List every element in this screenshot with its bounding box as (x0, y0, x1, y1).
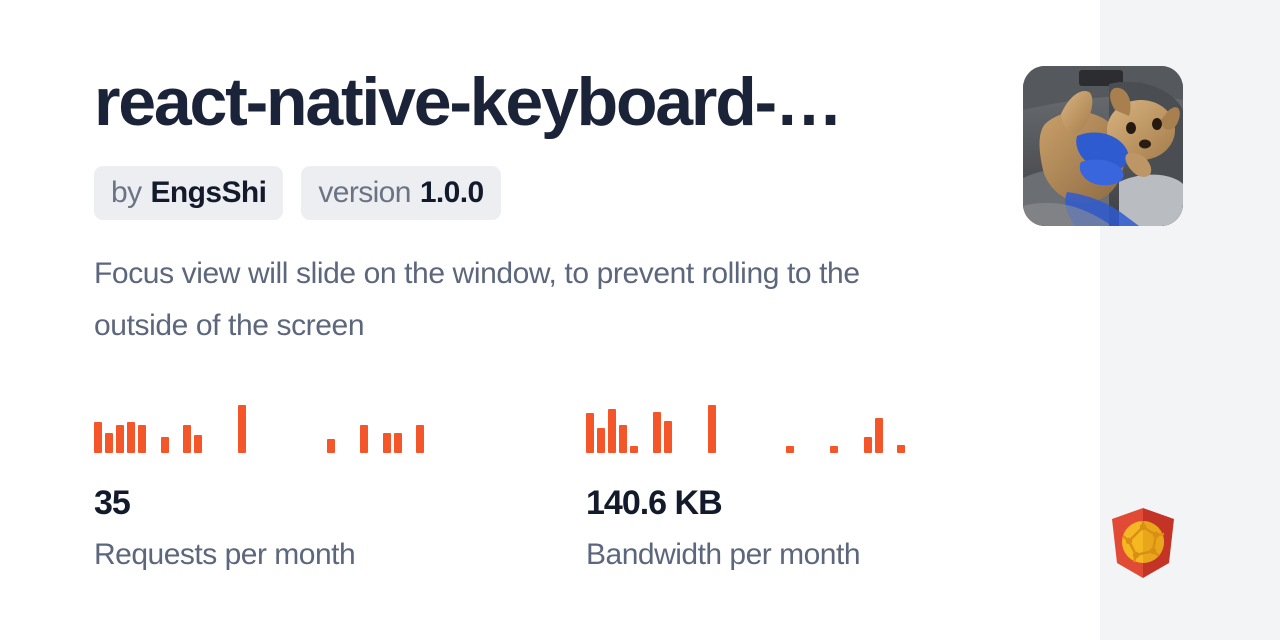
sparkline-bar (194, 435, 202, 453)
sparkline-bar (664, 421, 672, 453)
author-prefix-label: by (111, 175, 142, 211)
sparkline-bar (416, 425, 424, 453)
sparkline-bar (830, 446, 838, 453)
sparkline-bar (619, 425, 627, 453)
sparkline-bar (116, 425, 124, 453)
sparkline-bar (105, 433, 113, 453)
sparkline-bar (864, 437, 872, 453)
sparkline-bar (897, 445, 905, 453)
requests-label: Requests per month (94, 523, 586, 573)
version-badge: version 1.0.0 (301, 166, 500, 220)
bandwidth-value: 140.6 KB (586, 453, 916, 523)
sparkline-bar (875, 418, 883, 453)
sparkline-bar (327, 439, 335, 453)
sparkline-bar (608, 409, 616, 453)
sparkline-bar (597, 428, 605, 453)
sparkline-bar (161, 437, 169, 453)
sparkline-bar (383, 433, 391, 453)
sparkline-bar (183, 425, 191, 453)
package-description: Focus view will slide on the window, to … (94, 248, 914, 352)
meta-badges: by EngsShi version 1.0.0 (94, 166, 501, 220)
sparkline-bar (630, 446, 638, 453)
version-number: 1.0.0 (420, 175, 484, 211)
sparkline-bar (708, 405, 716, 453)
sparkline-bar (360, 425, 368, 453)
author-name: EngsShi (151, 175, 267, 211)
card-content: react-native-keyboard-… by EngsShi versi… (94, 0, 1034, 640)
package-title: react-native-keyboard-… (94, 62, 841, 142)
author-badge: by EngsShi (94, 166, 283, 220)
sparkline-bar (238, 405, 246, 453)
jsdelivr-logo (1112, 508, 1174, 578)
stats-row: 35 Requests per month 140.6 KB Bandwidth… (94, 405, 916, 573)
sparkline-bar (786, 446, 794, 453)
sparkline-bar (94, 422, 102, 453)
requests-sparkline (94, 405, 424, 453)
author-avatar (1023, 66, 1183, 226)
requests-value: 35 (94, 453, 586, 523)
stat-bandwidth: 140.6 KB Bandwidth per month (586, 405, 916, 573)
sparkline-bar (394, 433, 402, 453)
package-stats-card: react-native-keyboard-… by EngsShi versi… (0, 0, 1280, 640)
sparkline-bar (138, 425, 146, 453)
version-prefix-label: version (318, 175, 411, 211)
stat-requests: 35 Requests per month (94, 405, 586, 573)
sparkline-bar (127, 422, 135, 453)
bandwidth-sparkline (586, 405, 916, 453)
sparkline-bar (586, 413, 594, 453)
bandwidth-label: Bandwidth per month (586, 523, 916, 573)
sparkline-bar (653, 412, 661, 453)
